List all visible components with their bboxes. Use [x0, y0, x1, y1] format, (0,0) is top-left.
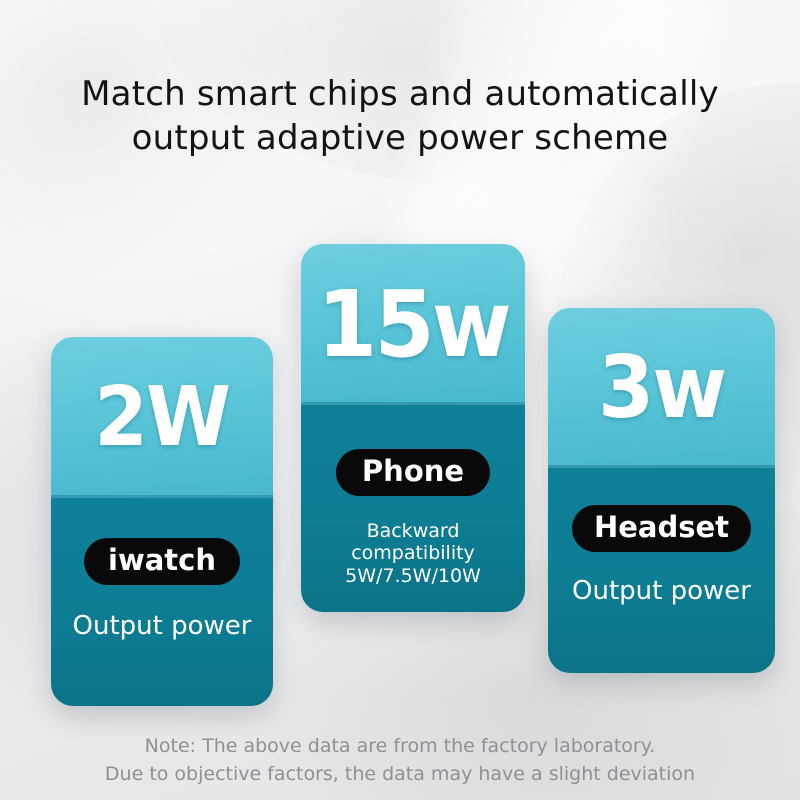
headline: Match smart chips and automatically outp… — [0, 72, 800, 160]
power-value-iwatch: 2W — [95, 377, 230, 459]
device-badge-iwatch: iwatch — [84, 538, 240, 585]
headline-line-1: Match smart chips and automatically — [0, 72, 800, 116]
device-badge-headset: Headset — [572, 505, 751, 552]
footer-note: Note: The above data are from the factor… — [0, 732, 800, 788]
caption-phone-line-1: Backward compatibility — [351, 520, 475, 564]
power-value-phone: 15w — [317, 279, 509, 371]
caption-headset: Output power — [572, 576, 751, 606]
device-badge-phone: Phone — [336, 449, 490, 496]
caption-iwatch: Output power — [73, 611, 252, 641]
footer-note-line-1: Note: The above data are from the factor… — [0, 732, 800, 760]
headline-line-2: output adaptive power scheme — [0, 116, 800, 160]
footer-note-line-2: Due to objective factors, the data may h… — [0, 760, 800, 788]
power-card-headset-bottom: Headset Output power — [548, 468, 775, 673]
caption-phone-line-2: 5W/7.5W/10W — [345, 565, 481, 587]
power-card-headset-top: 3w — [548, 308, 775, 468]
caption-phone: Backward compatibility 5W/7.5W/10W — [304, 520, 522, 587]
power-card-iwatch: 2W iwatch Output power — [51, 337, 273, 706]
power-card-iwatch-top: 2W — [51, 337, 273, 498]
promo-poster: Match smart chips and automatically outp… — [0, 0, 800, 800]
power-card-phone: 15w Phone Backward compatibility 5W/7.5W… — [301, 244, 525, 612]
power-card-phone-bottom: Phone Backward compatibility 5W/7.5W/10W — [301, 405, 525, 612]
power-card-phone-top: 15w — [301, 244, 525, 405]
power-card-iwatch-bottom: iwatch Output power — [51, 498, 273, 706]
power-card-headset: 3w Headset Output power — [548, 308, 775, 673]
power-value-headset: 3w — [598, 345, 725, 431]
